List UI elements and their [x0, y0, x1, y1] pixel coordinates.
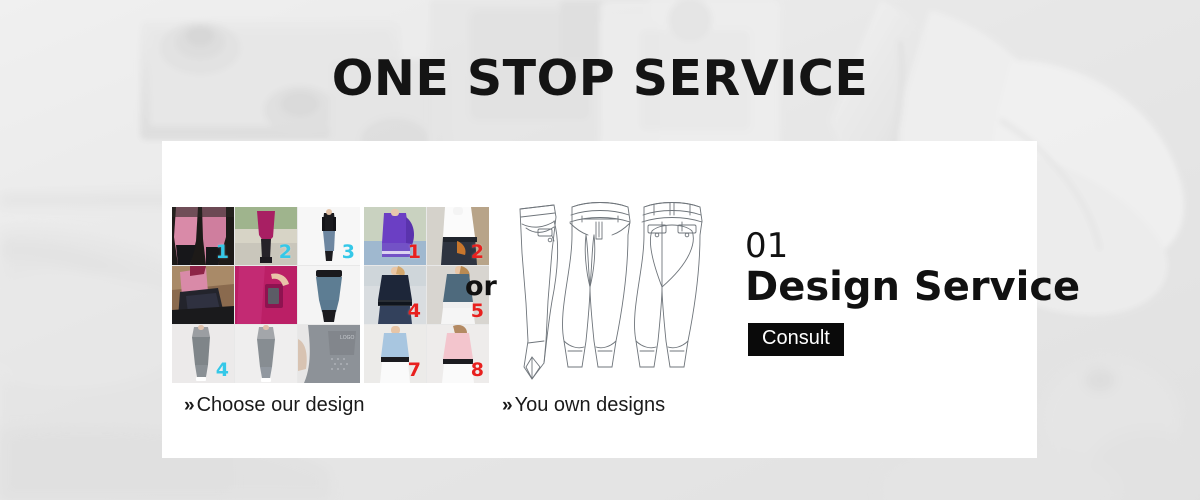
gallery-cell-number: 4 — [408, 302, 421, 321]
gallery-cell-number: 1 — [216, 243, 229, 262]
caption-right-label: You own designs — [515, 394, 666, 416]
gallery-cell-number: 4 — [216, 361, 229, 380]
gallery-cell[interactable]: 2 — [427, 207, 489, 265]
gallery-cell-number: 1 — [408, 243, 421, 262]
gallery-cell[interactable]: 3 — [298, 207, 360, 265]
gallery-cell[interactable]: 1 — [172, 207, 234, 265]
step-number: 01 — [745, 229, 1080, 263]
product-photo: LOGO — [298, 325, 360, 383]
screenshot-stage: ONE STOP SERVICE 1 — [0, 0, 1200, 500]
gallery-cell[interactable] — [298, 266, 360, 324]
step-title: Design Service — [745, 265, 1080, 310]
gallery-cell-number: 7 — [408, 361, 421, 380]
content-panel: 1 2 — [162, 141, 1037, 458]
breeches-sketch-svg — [502, 191, 722, 391]
product-photo — [172, 266, 234, 324]
gallery-cell[interactable]: LOGO — [298, 325, 360, 383]
caption-you-own-designs: »You own designs — [502, 394, 665, 417]
caption-left-label: Choose our design — [197, 394, 365, 416]
product-photo — [298, 266, 360, 324]
product-photo — [235, 325, 297, 383]
step-block: 01 Design Service Consult — [745, 229, 1080, 356]
product-photo — [235, 266, 297, 324]
galleries: 1 2 — [172, 207, 489, 383]
page-title: ONE STOP SERVICE — [0, 50, 1200, 107]
gallery-cell[interactable]: 8 — [427, 325, 489, 383]
caption-choose-our-design: »Choose our design — [184, 394, 364, 417]
gallery-cell[interactable]: 1 — [364, 207, 426, 265]
gallery-cell-number: 8 — [471, 361, 484, 380]
gallery-cell[interactable]: 7 — [364, 325, 426, 383]
breeches-technical-drawing — [502, 191, 722, 391]
gallery-cell[interactable]: 2 — [235, 207, 297, 265]
double-chevron-icon: » — [184, 395, 193, 416]
gallery-cell[interactable] — [235, 325, 297, 383]
gallery-cell[interactable]: 4 — [364, 266, 426, 324]
choose-our-design-gallery[interactable]: 1 2 — [172, 207, 360, 383]
or-separator: or — [465, 271, 497, 302]
svg-text:LOGO: LOGO — [340, 335, 355, 341]
double-chevron-icon: » — [502, 395, 511, 416]
gallery-cell-number: 3 — [342, 243, 355, 262]
gallery-cell[interactable]: 4 — [172, 325, 234, 383]
gallery-cell[interactable] — [235, 266, 297, 324]
consult-button[interactable]: Consult — [748, 323, 844, 356]
gallery-cell[interactable] — [172, 266, 234, 324]
gallery-cell-number: 5 — [471, 302, 484, 321]
gallery-cell-number: 2 — [279, 243, 292, 262]
gallery-cell-number: 2 — [471, 243, 484, 262]
